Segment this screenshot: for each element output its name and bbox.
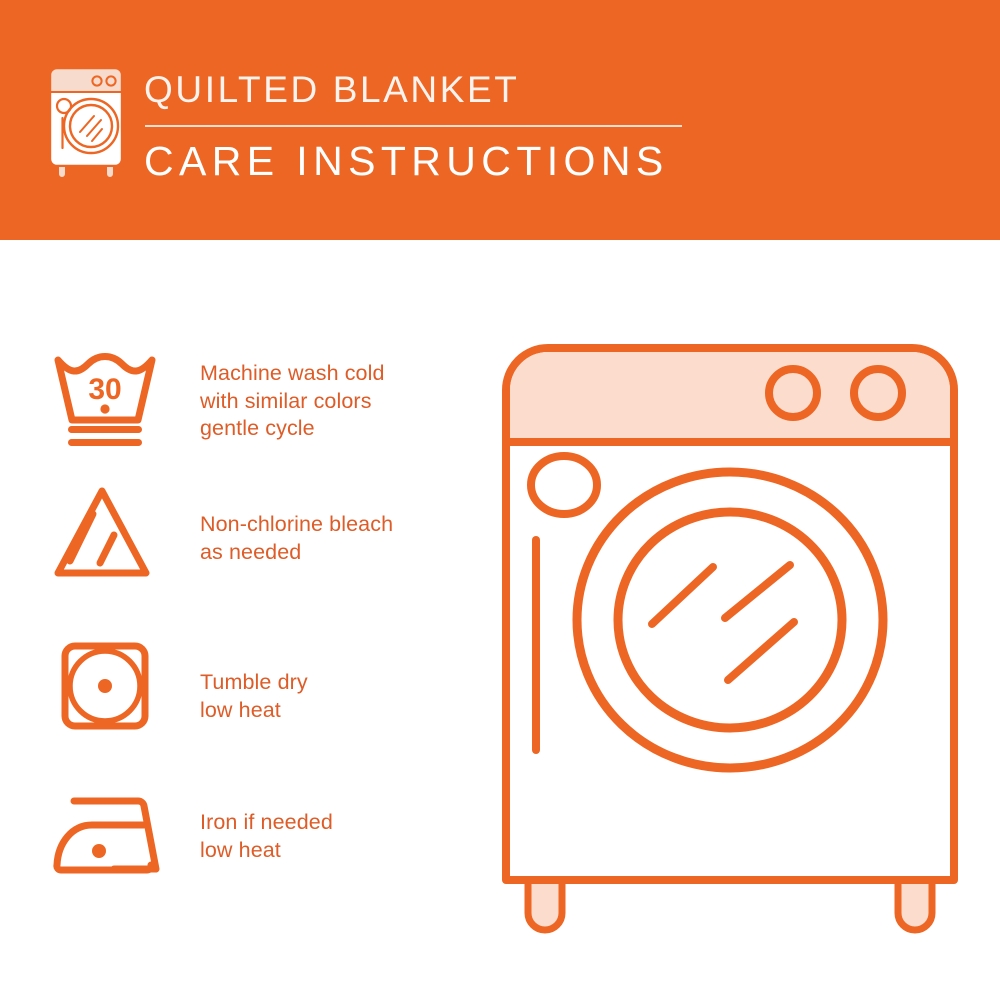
care-line: Tumble dry xyxy=(200,669,308,697)
care-item-label-machine-wash: Machine wash cold with similar colors ge… xyxy=(200,360,385,443)
title-divider xyxy=(145,125,682,127)
care-instruction-list: 30 Machine wash cold with similar colors… xyxy=(0,240,470,1000)
iron-low-heat-icon xyxy=(52,793,160,880)
wash-temperature-label: 30 xyxy=(88,373,121,406)
care-line: low heat xyxy=(200,697,308,725)
care-line: with similar colors xyxy=(200,388,385,416)
header-banner: QUILTED BLANKET CARE INSTRUCTIONS xyxy=(0,0,1000,240)
care-line: Non-chlorine bleach xyxy=(200,511,393,539)
tumble-dry-low-heat-icon xyxy=(60,641,150,736)
washing-machine-icon xyxy=(42,62,138,180)
care-line: low heat xyxy=(200,837,333,865)
header-title-group: QUILTED BLANKET CARE INSTRUCTIONS xyxy=(144,64,844,187)
non-chlorine-bleach-triangle-icon xyxy=(52,485,152,585)
care-item-label-bleach: Non-chlorine bleach as needed xyxy=(200,511,393,566)
care-line: as needed xyxy=(200,539,393,567)
care-line: Machine wash cold xyxy=(200,360,385,388)
page-title-primary: QUILTED BLANKET xyxy=(144,64,844,116)
care-line: Iron if needed xyxy=(200,809,333,837)
front-load-washing-machine-illustration xyxy=(480,330,980,950)
care-item-label-iron: Iron if needed low heat xyxy=(200,809,333,864)
control-panel xyxy=(510,352,950,442)
wash-tub-30-gentle-icon: 30 xyxy=(52,352,158,457)
care-instructions-page: QUILTED BLANKET CARE INSTRUCTIONS 30 Mac… xyxy=(0,0,1000,1000)
care-line: gentle cycle xyxy=(200,415,385,443)
care-item-label-tumble-dry: Tumble dry low heat xyxy=(200,669,308,724)
page-title-secondary: CARE INSTRUCTIONS xyxy=(144,135,844,187)
